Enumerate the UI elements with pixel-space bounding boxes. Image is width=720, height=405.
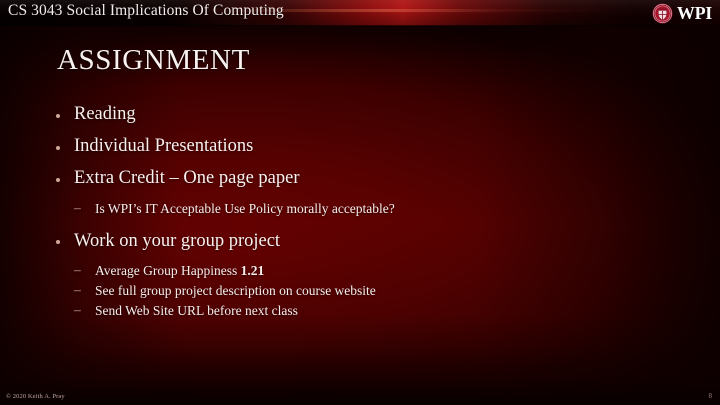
bullet-item-group-project: Work on your group project xyxy=(52,231,672,252)
wpi-wordmark: WPI xyxy=(677,4,712,22)
bullet-item-extra-credit: Extra Credit – One page paper xyxy=(52,168,672,189)
course-title: CS 3043 Social Implications Of Computing xyxy=(8,2,284,20)
sub-bullet-item-send-url: – Send Web Site URL before next class xyxy=(52,303,672,319)
bullet-dash-icon: – xyxy=(74,282,81,298)
bullet-dot-icon xyxy=(56,114,60,118)
sub-bullet-item-project-description: – See full group project description on … xyxy=(52,283,672,299)
average-group-happiness-value: 1.21 xyxy=(241,263,265,278)
bullet-text: Work on your group project xyxy=(74,231,280,251)
bullet-text: Individual Presentations xyxy=(74,136,253,156)
bullet-item-individual-presentations: Individual Presentations xyxy=(52,136,672,157)
presentation-slide: CS 3043 Social Implications Of Computing… xyxy=(0,0,720,405)
bullet-text: Reading xyxy=(74,104,136,124)
sub-bullet-text: Is WPI’s IT Acceptable Use Policy morall… xyxy=(95,201,395,216)
bullet-dot-icon xyxy=(56,240,60,244)
wpi-logo: WPI xyxy=(652,1,712,25)
slide-body-list: Reading Individual Presentations Extra C… xyxy=(52,104,672,324)
sub-bullet-text: Average Group Happiness xyxy=(95,263,241,278)
bullet-dash-icon: – xyxy=(74,200,81,216)
sub-bullet-item-aup-question: – Is WPI’s IT Acceptable Use Policy mora… xyxy=(52,201,672,217)
bullet-item-reading: Reading xyxy=(52,104,672,125)
bullet-dot-icon xyxy=(56,178,60,182)
slide-page-number: 8 xyxy=(709,392,713,400)
sub-bullet-item-average-happiness: – Average Group Happiness 1.21 xyxy=(52,263,672,279)
bullet-text: Extra Credit – One page paper xyxy=(74,168,300,188)
slide-title: ASSIGNMENT xyxy=(57,44,250,77)
bullet-dot-icon xyxy=(56,146,60,150)
sub-bullet-text: Send Web Site URL before next class xyxy=(95,303,298,318)
bullet-dash-icon: – xyxy=(74,302,81,318)
wpi-seal-icon xyxy=(652,3,673,24)
footer-copyright: © 2020 Keith A. Pray xyxy=(6,393,65,400)
background-vignette-bottom xyxy=(0,315,720,405)
bullet-dash-icon: – xyxy=(74,262,81,278)
sub-bullet-text: See full group project description on co… xyxy=(95,283,376,298)
